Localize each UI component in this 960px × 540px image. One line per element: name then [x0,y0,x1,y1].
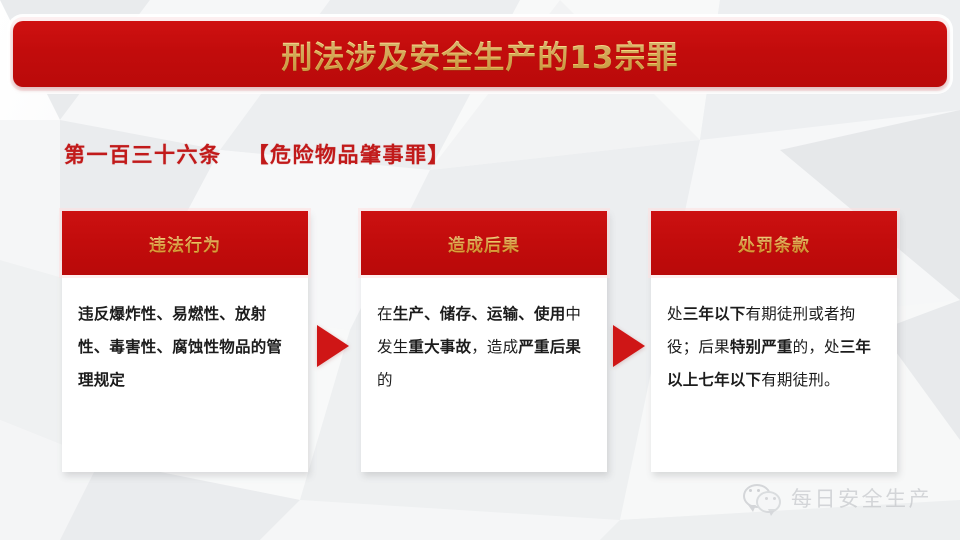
card-body-text: 违反爆炸性、易燃性、放射性、毒害性、腐蚀性物品的管理规定 [62,275,308,397]
card-penalty: 处罚条款 处三年以下有期徒刑或者拘役；后果特别严重的，处三年以上七年以下有期徒刑… [651,211,897,472]
card-header: 违法行为 [62,211,308,275]
arrow-right-icon-2 [613,325,645,367]
card-header-label: 违法行为 [149,231,221,256]
wechat-bubble-small [756,491,781,513]
emphasis-text: 重大事故 [408,338,471,356]
card-body-text: 处三年以下有期徒刑或者拘役；后果特别严重的，处三年以上七年以下有期徒刑。 [651,275,897,397]
article-subtitle: 第一百三十六条【危险物品肇事罪】 [64,139,450,169]
wechat-icon [743,483,781,513]
watermark: 每日安全生产 [743,483,932,513]
card-consequence: 造成后果 在生产、储存、运输、使用中发生重大事故，造成严重后果的 [361,211,607,472]
watermark-label: 每日安全生产 [791,483,932,513]
card-header: 处罚条款 [651,211,897,275]
body-text: 处 [667,305,683,323]
body-text: 的 [377,371,393,389]
card-header-label: 处罚条款 [738,231,810,256]
emphasis-text: 违反爆炸性、易燃性、放射性、毒害性、腐蚀性物品的管理规定 [78,305,282,389]
title-banner: 刑法涉及安全生产的13宗罪 [13,21,947,87]
body-text: 有期徒刑。 [761,371,840,389]
emphasis-text: 特别严重 [730,338,793,356]
slide-canvas: 刑法涉及安全生产的13宗罪 第一百三十六条【危险物品肇事罪】 违法行为 违反爆炸… [0,0,960,540]
arrow-right-icon-1 [317,325,349,367]
body-text: 在 [377,305,393,323]
body-text: ，造成 [471,338,518,356]
card-header-label: 造成后果 [448,231,520,256]
emphasis-text: 严重后果 [518,338,581,356]
page-title: 刑法涉及安全生产的13宗罪 [281,32,678,77]
body-text: 的，处 [793,338,840,356]
emphasis-text: 三年以下 [683,305,746,323]
card-body-text: 在生产、储存、运输、使用中发生重大事故，造成严重后果的 [361,275,607,397]
crime-name: 【危险物品肇事罪】 [248,143,451,167]
card-illegal-act: 违法行为 违反爆炸性、易燃性、放射性、毒害性、腐蚀性物品的管理规定 [62,211,308,472]
card-header: 造成后果 [361,211,607,275]
article-number: 第一百三十六条 [64,143,222,167]
emphasis-text: 生产、储存、运输、使用 [393,305,566,323]
